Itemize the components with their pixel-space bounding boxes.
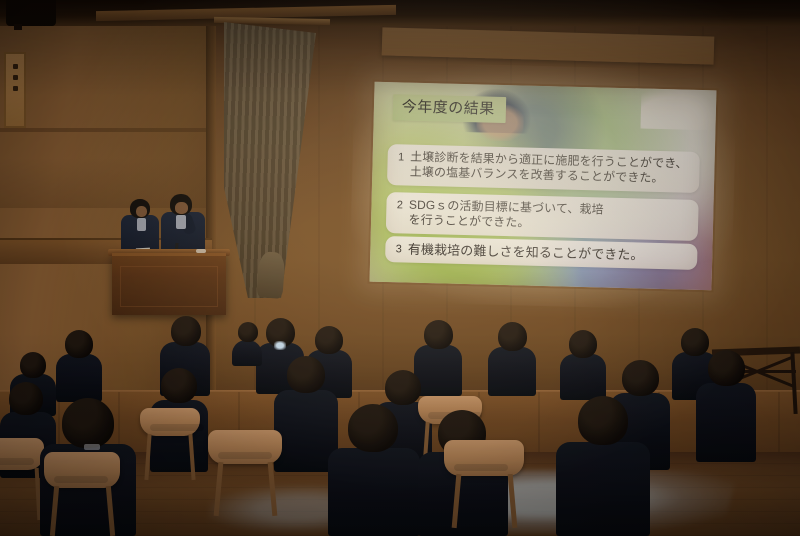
audience-head	[65, 330, 93, 358]
slide-bullet-3: 3 有機栽培の難しさを知ることができた。	[385, 236, 697, 270]
bullet-number: 1	[398, 149, 405, 164]
projection-screen: 今年度の結果 1 土壌診断を結果から適正に施肥を行うことができ、 土壌の塩基バラ…	[370, 82, 717, 291]
bullet-number: 3	[396, 241, 403, 256]
presenter-face	[136, 206, 147, 217]
audience-head	[424, 320, 453, 349]
audience-member	[328, 404, 420, 536]
presenter-shirt	[176, 215, 186, 229]
presentation-hall-photo: 今年度の結果 1 土壌診断を結果から適正に施肥を行うことができ、 土壌の塩基バラ…	[0, 0, 800, 536]
audience-member	[556, 396, 650, 536]
chair-leg	[106, 486, 115, 536]
chair-leg	[452, 474, 462, 528]
audience-head	[171, 316, 201, 346]
audience-body	[696, 383, 756, 462]
presenter-shirt	[137, 218, 146, 231]
presenter-right	[160, 194, 208, 257]
folding-chair	[208, 430, 282, 516]
folding-chair	[140, 408, 200, 468]
slide-bullet-2: 2 SDGｓの活動目標に基づいて、栽培 を行うことができた。	[386, 192, 698, 241]
chair-backrest	[208, 430, 282, 464]
folding-chair	[444, 440, 524, 528]
bullet-text: 有機栽培の難しさを知ることができた。	[408, 242, 644, 263]
curtain-tieback	[256, 251, 285, 299]
chair-leg	[214, 462, 224, 516]
audience-collar	[84, 444, 100, 450]
audience-body	[560, 354, 606, 400]
audience-body	[556, 442, 650, 536]
speaker-bracket	[14, 24, 22, 30]
bullet-line-1: 有機栽培の難しさを知ることができた。	[408, 242, 644, 263]
slide-title: 今年度の結果	[392, 94, 506, 123]
audience-head	[578, 396, 628, 445]
bullet-text: SDGｓの活動目標に基づいて、栽培 を行うことができた。	[408, 198, 603, 233]
chair-leg	[508, 474, 518, 528]
audience-member	[232, 322, 262, 366]
phone-screen-glow	[274, 341, 286, 350]
audience-member	[560, 330, 606, 400]
ceiling-mounted-speaker	[6, 0, 56, 26]
audience-head	[385, 370, 421, 405]
audience-head	[287, 356, 325, 393]
audience-head	[20, 352, 46, 378]
slide-bullet-1: 1 土壌診断を結果から適正に施肥を行うことができ、 土壌の塩基バランスを改善する…	[387, 144, 699, 193]
presenter-face	[175, 202, 188, 214]
audience-body	[328, 448, 420, 536]
chair-backrest	[0, 438, 44, 470]
chair-backrest	[44, 452, 120, 488]
audience-body	[488, 347, 536, 396]
placard-glyph	[13, 75, 18, 80]
audience-head	[62, 398, 114, 448]
audience-head	[569, 330, 597, 358]
left-wall-baseboard	[0, 128, 206, 132]
audience-head	[238, 322, 258, 342]
placard-glyph	[13, 64, 18, 69]
chair-leg	[268, 462, 278, 516]
audience-head	[9, 382, 43, 415]
folding-chair	[44, 452, 120, 536]
audience-member	[488, 322, 536, 396]
audience-member	[56, 330, 102, 402]
audience-head	[708, 350, 745, 386]
bullet-number: 2	[397, 197, 404, 212]
audience-head	[161, 368, 197, 403]
audience-head	[348, 404, 398, 452]
audience-body	[232, 340, 262, 366]
audience-body	[56, 354, 102, 402]
chair-backrest	[444, 440, 524, 476]
framed-wall-placard	[4, 52, 26, 128]
lectern-front-panel	[120, 266, 218, 307]
audience-head	[622, 360, 659, 396]
chair-backrest	[140, 408, 200, 436]
chair-leg	[50, 486, 59, 536]
lectern-note	[196, 249, 206, 253]
screen-surface: 今年度の結果 1 土壌診断を結果から適正に施肥を行うことができ、 土壌の塩基バラ…	[370, 82, 717, 291]
slide-content: 今年度の結果 1 土壌診断を結果から適正に施肥を行うことができ、 土壌の塩基バラ…	[370, 82, 717, 291]
audience-member	[696, 350, 756, 462]
audience-head	[315, 326, 343, 354]
lectern	[112, 253, 226, 315]
bullet-text: 土壌診断を結果から適正に施肥を行うことができ、 土壌の塩基バランスを改善すること…	[410, 150, 688, 187]
audience-head	[498, 322, 527, 351]
placard-glyph	[13, 86, 18, 91]
